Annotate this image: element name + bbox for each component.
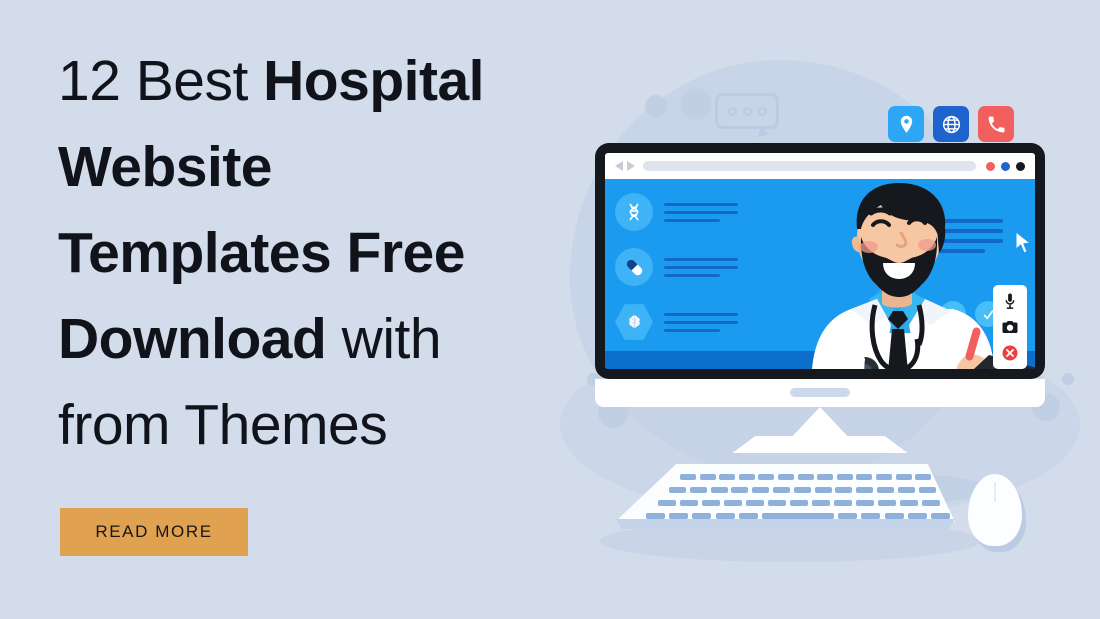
camera-icon[interactable]: [1000, 317, 1020, 337]
read-more-button[interactable]: READ MORE: [60, 508, 248, 556]
floating-toolbar[interactable]: [993, 285, 1027, 369]
website-page: [605, 179, 1035, 369]
microphone-icon[interactable]: [1000, 291, 1020, 311]
hero-illustration: [540, 0, 1100, 619]
keyboard-row: [680, 474, 931, 480]
feature-text-lines: [664, 258, 738, 277]
headline-part-light-2: with: [326, 307, 441, 371]
globe-badge[interactable]: [933, 106, 969, 142]
headline-part-light-3: from Themes: [58, 393, 387, 457]
phone-badge[interactable]: [978, 106, 1014, 142]
bubble-dot: [743, 107, 752, 116]
location-pin-badge[interactable]: [888, 106, 924, 142]
typing-bubble-icon: [715, 93, 779, 129]
feature-row-brain: [615, 303, 738, 341]
headline-part-light-1: 12 Best: [58, 49, 263, 113]
keyboard-row: [669, 487, 936, 493]
page-title: 12 Best Hospital Website Templates Free …: [58, 38, 578, 468]
keyboard[interactable]: [615, 464, 955, 532]
monitor-stand-base: [733, 436, 908, 453]
feature-row-dna: [615, 193, 738, 231]
browser-nav-buttons[interactable]: [615, 161, 635, 171]
keyboard-row-spacebar: [646, 513, 950, 519]
mouse-scroll-divider: [994, 482, 996, 502]
close-x-icon[interactable]: [1000, 343, 1020, 363]
keyboard-row: [658, 500, 940, 506]
phone-icon: [986, 114, 1007, 135]
bubble-dot: [728, 107, 737, 116]
headline-part-bold-1: Hospital: [263, 49, 484, 113]
feature-row-pill: [615, 248, 738, 286]
decor-dot: [645, 95, 667, 117]
bubble-dot: [758, 107, 767, 116]
monitor-screen: [605, 153, 1035, 369]
decor-dot: [680, 88, 712, 120]
location-pin-icon: [896, 114, 917, 135]
forward-arrow-icon[interactable]: [627, 161, 635, 171]
monitor-frame: [595, 143, 1045, 379]
pill-capsule-icon: [615, 248, 653, 286]
keyboard-edge: [615, 519, 955, 529]
brain-icon: [615, 303, 653, 341]
feature-text-lines: [664, 313, 738, 332]
headline-part-bold-3: Templates Free: [58, 221, 465, 285]
headline-part-bold-4: Download: [58, 307, 326, 371]
promo-banner: 12 Best Hospital Website Templates Free …: [0, 0, 1100, 619]
dna-icon: [615, 193, 653, 231]
back-arrow-icon[interactable]: [615, 161, 623, 171]
globe-icon: [941, 114, 962, 135]
monitor-stand-neck: [788, 407, 852, 441]
feature-text-lines: [664, 203, 738, 222]
monitor-logo: [790, 388, 850, 397]
headline-block: 12 Best Hospital Website Templates Free …: [58, 38, 578, 468]
decor-dot: [1062, 373, 1074, 385]
app-badge-group: [888, 106, 1014, 142]
headline-part-bold-2: Website: [58, 135, 272, 199]
